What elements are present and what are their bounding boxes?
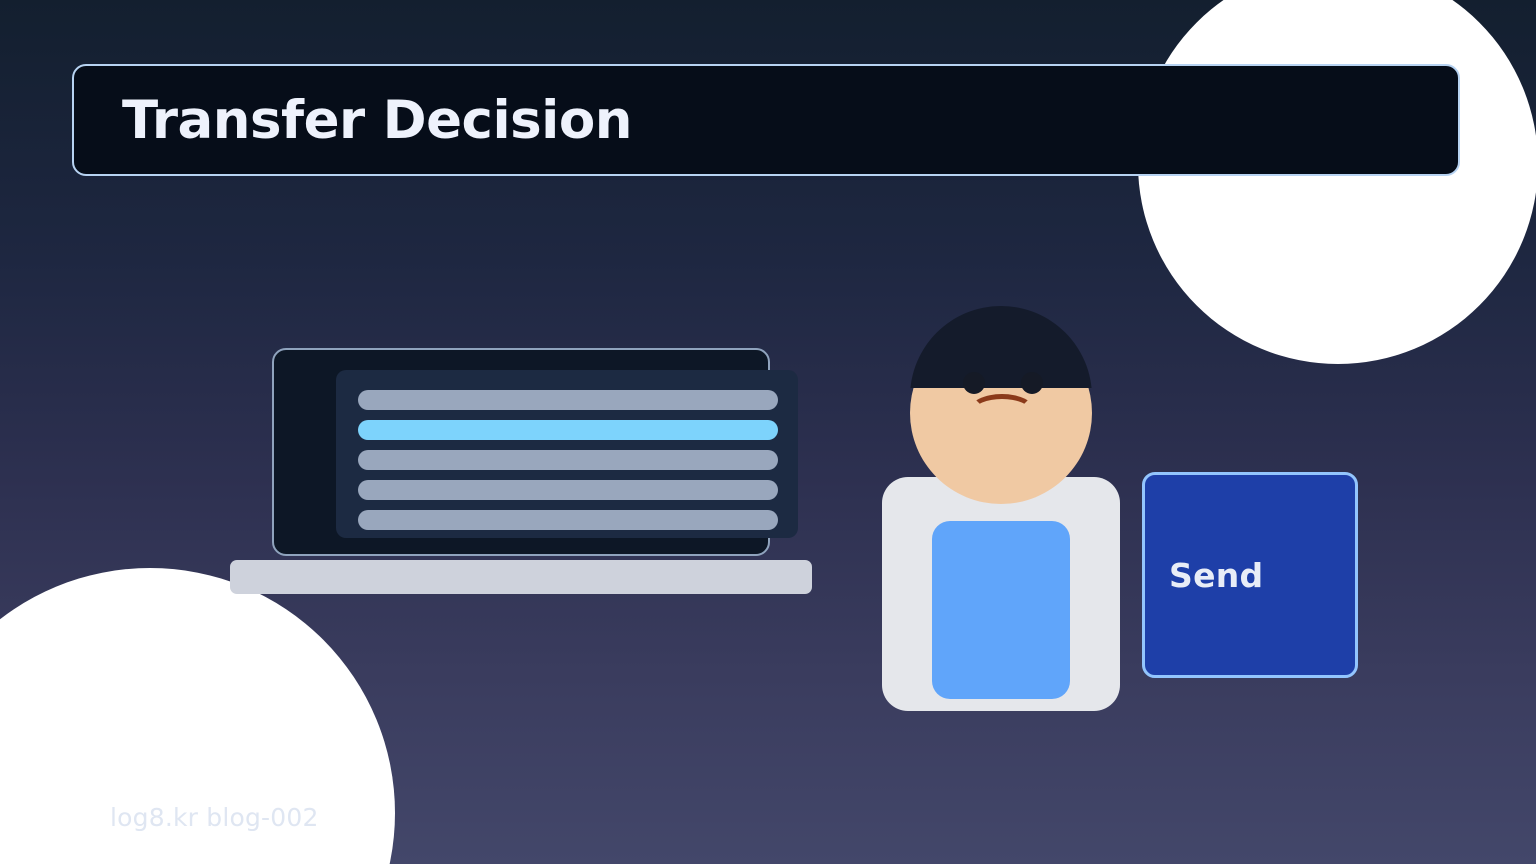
screen-text-line-3: [358, 450, 778, 470]
screen-text-line-2-highlighted: [358, 420, 778, 440]
send-button-label: Send: [1169, 556, 1263, 595]
title-bar: Transfer Decision: [72, 64, 1460, 176]
decorative-circle-top-right: [1138, 0, 1536, 364]
send-button[interactable]: Send: [1142, 472, 1358, 678]
laptop-illustration: [228, 348, 812, 596]
footer-watermark: log8.kr blog-002: [110, 803, 319, 832]
person-eye-left-icon: [963, 372, 985, 394]
laptop-screen: [336, 370, 798, 538]
slide-canvas: Transfer Decision Send log8.kr blog-002: [0, 0, 1536, 864]
screen-text-line-1: [358, 390, 778, 410]
page-title: Transfer Decision: [122, 90, 632, 151]
person-badge: [932, 521, 1070, 699]
laptop-lid: [272, 348, 770, 556]
person-frown-mouth-icon: [970, 394, 1034, 426]
screen-text-line-4: [358, 480, 778, 500]
screen-text-line-5: [358, 510, 778, 530]
person-eye-right-icon: [1021, 372, 1043, 394]
laptop-base: [230, 560, 812, 594]
